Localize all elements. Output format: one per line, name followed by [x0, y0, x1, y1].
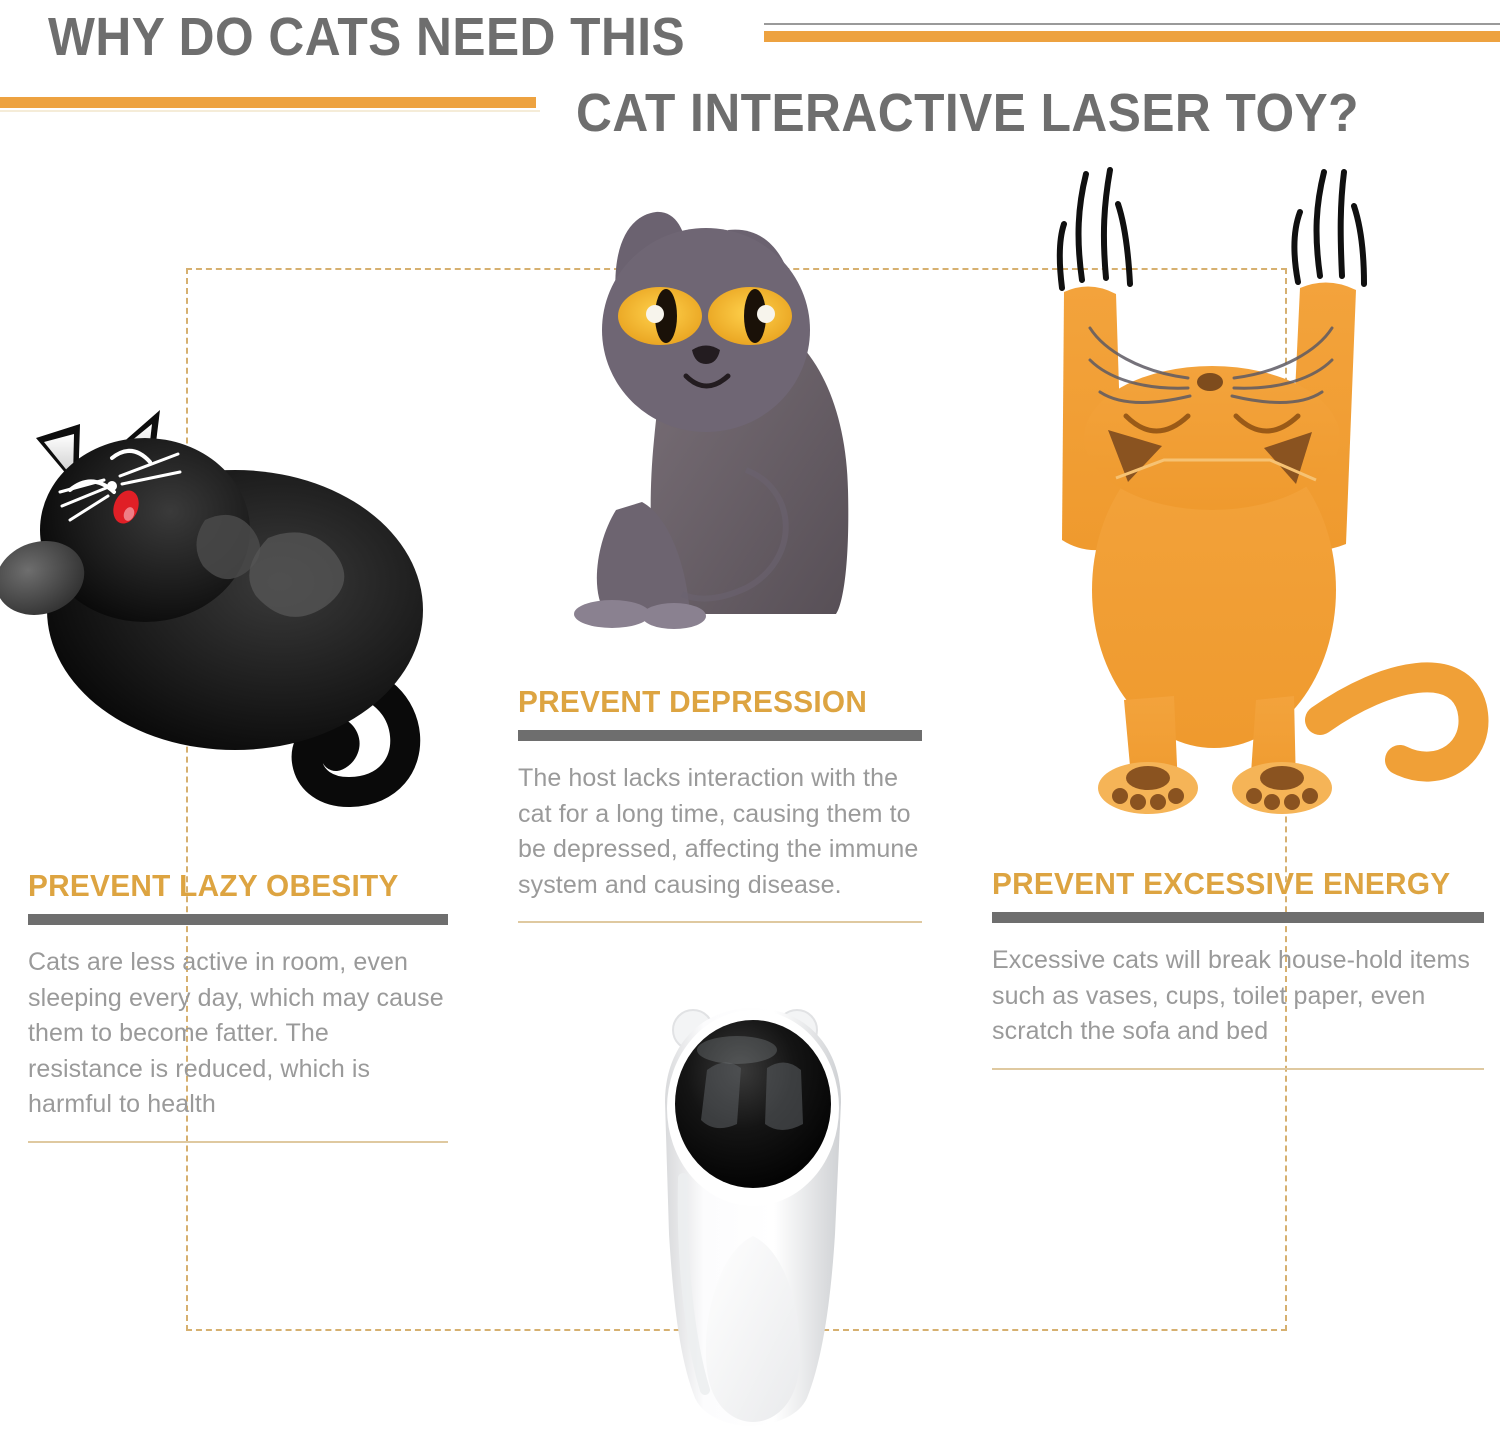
- section-rule-tan-obesity: [28, 1141, 448, 1143]
- section-prevent-depression: PREVENT DEPRESSION The host lacks intera…: [518, 684, 922, 923]
- section-heading-obesity: PREVENT LAZY OBESITY: [28, 868, 431, 904]
- section-prevent-excessive-energy: PREVENT EXCESSIVE ENERGY Excessive cats …: [992, 866, 1484, 1070]
- section-rule-gray-obesity: [28, 914, 448, 925]
- black-fat-cat-illustration: [0, 380, 460, 825]
- section-body-depression: The host lacks interaction with the cat …: [518, 761, 922, 903]
- section-prevent-lazy-obesity: PREVENT LAZY OBESITY Cats are less activ…: [28, 868, 448, 1143]
- header-rule-orange-bottom: [0, 97, 536, 108]
- header-rule-orange-top: [764, 31, 1500, 42]
- laser-toy-product-image: [645, 998, 860, 1433]
- orange-scratching-cat-illustration: [1020, 160, 1500, 825]
- section-rule-tan-depression: [518, 921, 922, 923]
- header-rule-thin-bottom: [0, 110, 540, 112]
- section-rule-tan-energy: [992, 1068, 1484, 1070]
- infographic-page: WHY DO CATS NEED THIS CAT INTERACTIVE LA…: [0, 0, 1500, 1436]
- gray-sad-cat-illustration: [550, 190, 890, 645]
- section-body-obesity: Cats are less active in room, even sleep…: [28, 945, 448, 1123]
- section-heading-energy: PREVENT EXCESSIVE ENERGY: [992, 866, 1464, 902]
- page-title-line-2: CAT INTERACTIVE LASER TOY?: [576, 82, 1359, 144]
- section-heading-depression: PREVENT DEPRESSION: [518, 684, 906, 720]
- page-title-line-1: WHY DO CATS NEED THIS: [48, 6, 685, 68]
- section-rule-gray-energy: [992, 912, 1484, 923]
- header-rule-thin-top: [764, 23, 1500, 25]
- section-body-energy: Excessive cats will break house-hold ite…: [992, 943, 1484, 1050]
- section-rule-gray-depression: [518, 730, 922, 741]
